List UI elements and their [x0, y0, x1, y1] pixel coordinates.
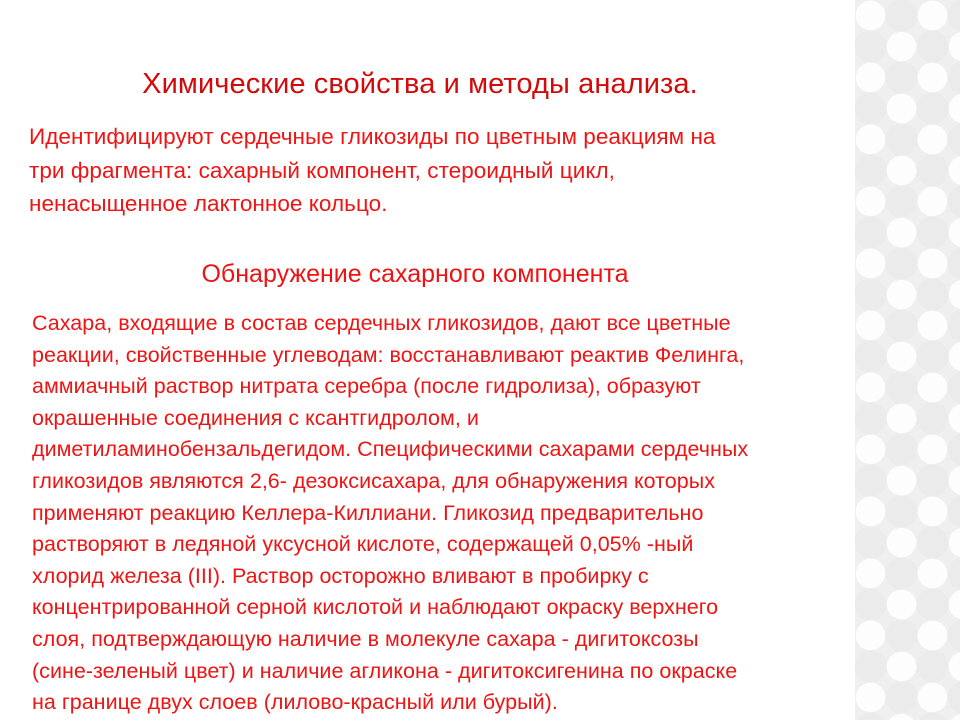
slide-content-area: Химические свойства и методы анализа. Ид…	[0, 0, 855, 720]
intro-paragraph: Идентифицируют сердечные гликозиды по цв…	[29, 120, 829, 221]
section-heading: Обнаружение сахарного компонента	[0, 257, 830, 291]
intro-line: ненасыщенное лактонное кольцо.	[29, 187, 829, 221]
body-line: аммиачный раствор нитрата серебра (после…	[32, 371, 844, 403]
slide-canvas: Химические свойства и методы анализа. Ид…	[0, 0, 960, 720]
body-line: Сахара, входящие в состав сердечных глик…	[32, 308, 844, 340]
body-line: применяют реакцию Келлера-Киллиани. Глик…	[32, 498, 844, 530]
body-line: окрашенные соединения с ксантгидролом, и	[32, 403, 844, 435]
body-line: хлорид железа (III). Раствор осторожно в…	[32, 561, 844, 593]
intro-line: Идентифицируют сердечные гликозиды по цв…	[29, 120, 829, 154]
body-line: слоя, подтверждающую наличие в молекуле …	[32, 624, 844, 656]
body-line: (сине-зеленый цвет) и наличие агликона -…	[32, 656, 844, 688]
decorative-side-band	[855, 0, 960, 720]
intro-line: три фрагмента: сахарный компонент, стеро…	[29, 154, 829, 188]
body-line: растворяют в ледяной уксусной кислоте, с…	[32, 529, 844, 561]
page-title: Химические свойства и методы анализа.	[0, 65, 840, 103]
body-line: концентрированной серной кислотой и набл…	[32, 592, 844, 624]
body-line: диметиламинобензальдегидом. Специфически…	[32, 434, 844, 466]
body-line: гликозидов являются 2,6- дезоксисахара, …	[32, 466, 844, 498]
body-paragraph: Сахара, входящие в состав сердечных глик…	[32, 308, 844, 719]
body-line: реакции, свойственные углеводам: восстан…	[32, 340, 844, 372]
body-line: на границе двух слоев (лилово-красный ил…	[32, 687, 844, 719]
